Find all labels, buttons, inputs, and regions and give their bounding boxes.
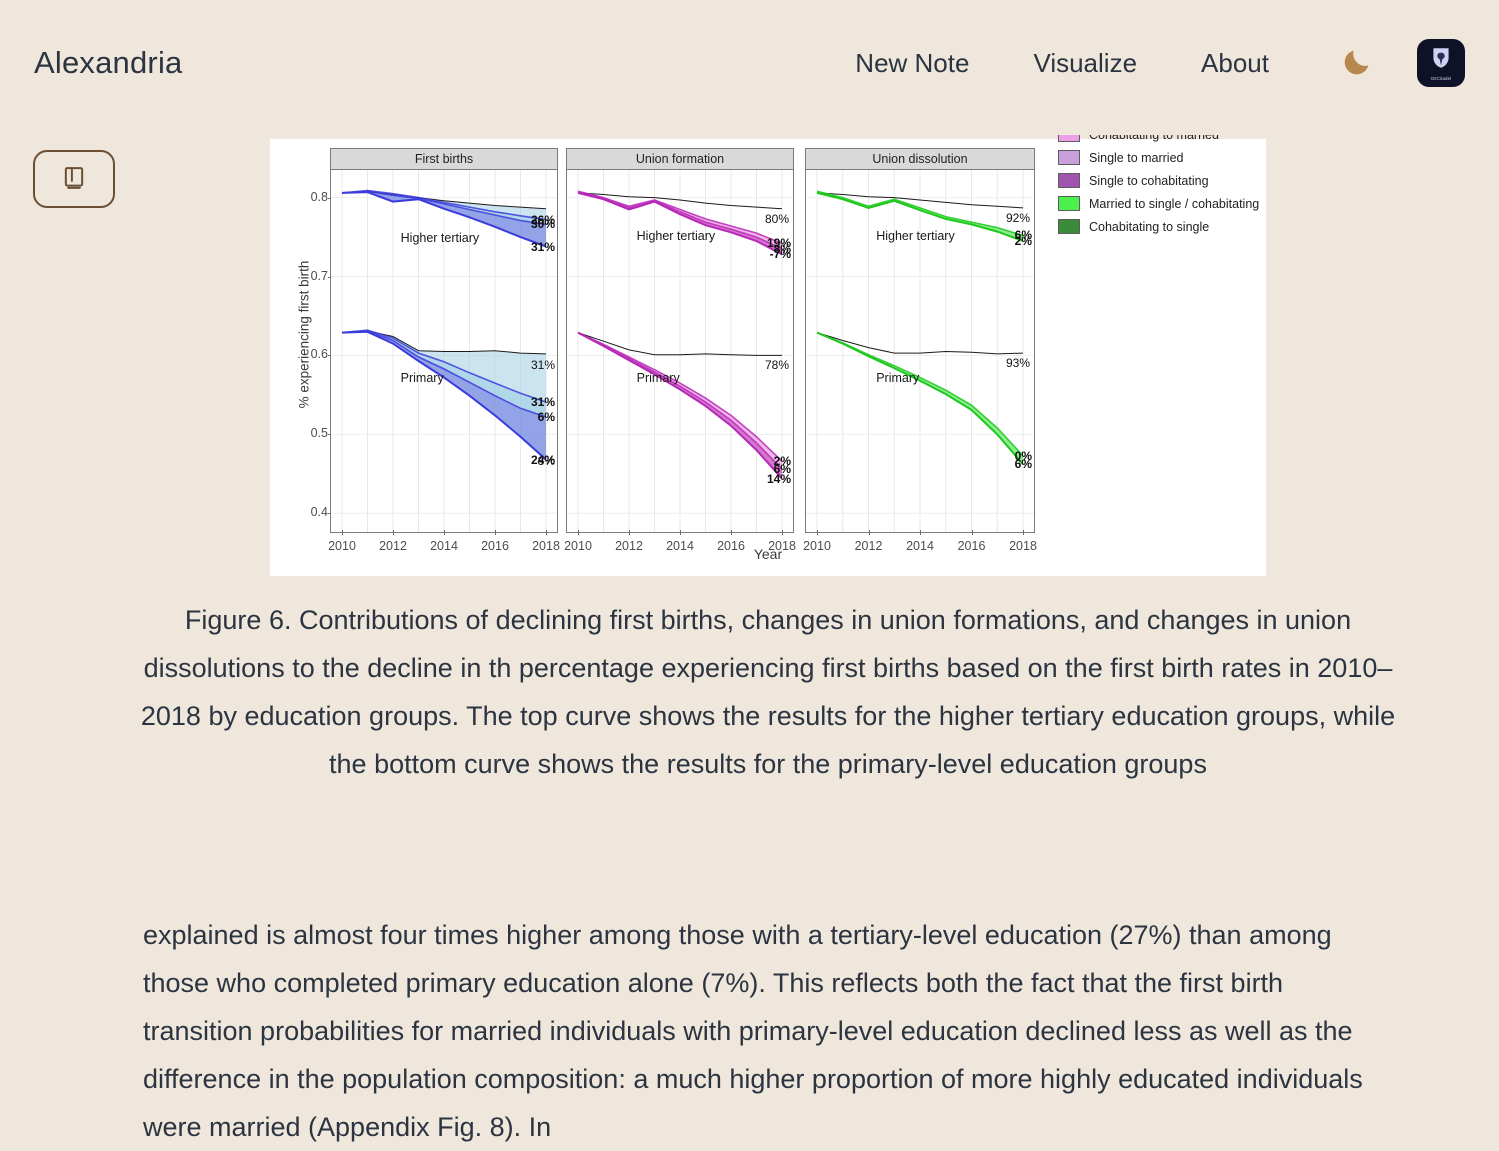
panel-title-union-formation: Union formation — [566, 148, 794, 170]
series-end-label: 14% — [767, 472, 791, 486]
baseline-value-label: 92% — [1006, 211, 1030, 225]
moon-icon — [1340, 45, 1374, 82]
x-tick-label: 2016 — [481, 539, 509, 553]
curve-group-label: Higher tertiary — [401, 231, 480, 245]
x-tick-label: 2018 — [768, 539, 796, 553]
citadel-helm-icon — [1428, 45, 1454, 76]
chart-panel-union-dissolution: Union dissolution Higher tertiary92%6%2%… — [805, 148, 1035, 533]
y-tick-label: 0.5 — [284, 426, 328, 440]
x-tick-mark — [1023, 530, 1024, 535]
x-tick-label: 2014 — [906, 539, 934, 553]
legend-item[interactable]: Single to married — [1058, 146, 1268, 169]
legend-swatch — [1058, 219, 1080, 234]
legend-swatch — [1058, 135, 1080, 142]
chart-panel-union-formation: Union formation Higher tertiary80%19%8%-… — [566, 148, 794, 533]
legend-item[interactable]: Cohabitating to married — [1058, 135, 1268, 146]
logo-badge-label: GitCitadel — [1431, 77, 1452, 82]
legend-swatch — [1058, 196, 1080, 211]
nav-visualize[interactable]: Visualize — [1001, 42, 1169, 85]
series-end-label: 31% — [531, 395, 555, 409]
series-end-label: 30% — [531, 217, 555, 231]
x-tick-label: 2010 — [803, 539, 831, 553]
y-tick-label: 0.6 — [284, 347, 328, 361]
x-tick-mark — [393, 530, 394, 535]
legend-item[interactable]: Married to single / cohabitating — [1058, 192, 1268, 215]
x-tick-mark — [731, 530, 732, 535]
panel-plot-area-union-dissolution: Higher tertiary92%6%2%Primary93%0%6% — [805, 170, 1035, 533]
panel-plot-area-union-formation: Higher tertiary80%19%8%-7%Primary78%2%6%… — [566, 170, 794, 533]
x-tick-mark — [629, 530, 630, 535]
curve-group-label: Primary — [401, 371, 444, 385]
panel-plot-area-first-births: Higher tertiary26%30%31%Primary31%6%24%3… — [330, 170, 558, 533]
figure-caption: Figure 6. Contributions of declining fir… — [128, 596, 1408, 788]
x-tick-label: 2016 — [958, 539, 986, 553]
x-tick-label: 2014 — [666, 539, 694, 553]
x-tick-mark — [680, 530, 681, 535]
theme-toggle-button[interactable] — [1337, 43, 1377, 83]
article-paragraph: explained is almost four times higher am… — [143, 911, 1393, 1151]
x-tick-label: 2010 — [564, 539, 592, 553]
series-end-label: 2% — [1015, 234, 1032, 248]
sidebar-toggle-button[interactable] — [33, 150, 115, 208]
x-tick-mark — [578, 530, 579, 535]
book-icon — [60, 164, 88, 195]
figure-image-panel: % experiencing first birth Year 0.40.50.… — [270, 139, 1266, 576]
x-tick-mark — [869, 530, 870, 535]
baseline-value-label: 78% — [765, 358, 789, 372]
y-tick-label: 0.7 — [284, 269, 328, 283]
x-tick-mark — [546, 530, 547, 535]
x-tick-mark — [342, 530, 343, 535]
app-brand[interactable]: Alexandria — [34, 45, 182, 81]
x-tick-label: 2018 — [532, 539, 560, 553]
baseline-value-label: 93% — [1006, 356, 1030, 370]
chart-legend: Cohabitating to marriedSingle to married… — [1058, 135, 1268, 250]
panel-x-axis-first-births: 20102012201420162018 — [330, 535, 558, 557]
legend-label: Married to single / cohabitating — [1089, 197, 1259, 211]
series-end-label: 6% — [1015, 457, 1032, 471]
x-tick-mark — [817, 530, 818, 535]
baseline-value-label: 80% — [765, 212, 789, 226]
series-extra-label: 8% — [538, 454, 555, 468]
panel-x-axis-union-dissolution: 20102012201420162018 — [805, 535, 1035, 557]
gitcitadel-logo-badge[interactable]: GitCitadel — [1417, 39, 1465, 87]
x-tick-label: 2012 — [855, 539, 883, 553]
series-end-label: -7% — [770, 247, 791, 261]
x-tick-mark — [782, 530, 783, 535]
panel-title-first-births: First births — [330, 148, 558, 170]
y-tick-label: 0.8 — [284, 190, 328, 204]
panel-series-svg — [806, 170, 1034, 533]
app-header: Alexandria New Note Visualize About GitC… — [0, 0, 1499, 126]
main-nav: New Note Visualize About GitCitadel — [823, 39, 1465, 87]
x-tick-label: 2014 — [430, 539, 458, 553]
legend-swatch — [1058, 150, 1080, 165]
chart-canvas: % experiencing first birth Year 0.40.50.… — [270, 139, 1266, 576]
legend-item[interactable]: Single to cohabitating — [1058, 169, 1268, 192]
nav-new-note[interactable]: New Note — [823, 42, 1001, 85]
x-tick-label: 2012 — [615, 539, 643, 553]
legend-item[interactable]: Cohabitating to single — [1058, 215, 1268, 238]
x-tick-label: 2018 — [1009, 539, 1037, 553]
x-tick-mark — [444, 530, 445, 535]
chart-y-axis-ticks: 0.40.50.60.70.8 — [272, 139, 328, 576]
x-tick-mark — [972, 530, 973, 535]
panel-x-axis-union-formation: 20102012201420162018 — [566, 535, 794, 557]
panel-title-union-dissolution: Union dissolution — [805, 148, 1035, 170]
x-tick-label: 2016 — [717, 539, 745, 553]
series-extra-label: 31% — [531, 358, 555, 372]
curve-group-label: Higher tertiary — [876, 229, 955, 243]
legend-label: Cohabitating to single — [1089, 220, 1209, 234]
legend-label: Single to married — [1089, 151, 1184, 165]
x-tick-mark — [920, 530, 921, 535]
nav-about[interactable]: About — [1169, 42, 1301, 85]
series-end-label: 6% — [538, 410, 555, 424]
x-tick-label: 2012 — [379, 539, 407, 553]
series-end-label: 31% — [531, 240, 555, 254]
legend-label: Cohabitating to married — [1089, 135, 1219, 142]
legend-label: Single to cohabitating — [1089, 174, 1209, 188]
curve-group-label: Primary — [876, 371, 919, 385]
chart-panel-first-births: First births Higher tertiary26%30%31%Pri… — [330, 148, 558, 533]
x-tick-mark — [495, 530, 496, 535]
y-tick-label: 0.4 — [284, 505, 328, 519]
curve-group-label: Primary — [637, 371, 680, 385]
legend-swatch — [1058, 173, 1080, 188]
curve-group-label: Higher tertiary — [637, 229, 716, 243]
panel-series-svg — [331, 170, 557, 533]
x-tick-label: 2010 — [328, 539, 356, 553]
panel-series-svg — [567, 170, 793, 533]
